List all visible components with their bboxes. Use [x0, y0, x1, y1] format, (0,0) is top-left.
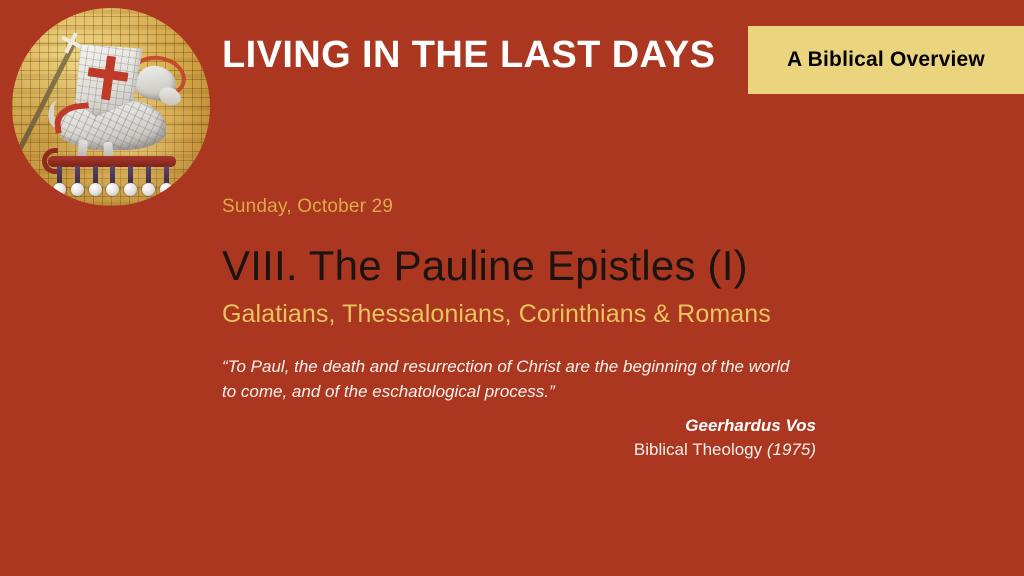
seal	[71, 166, 84, 202]
seal	[53, 166, 66, 202]
seal-cord	[164, 166, 169, 184]
pull-quote: “To Paul, the death and resurrection of …	[222, 355, 800, 404]
seal-disc	[124, 183, 137, 196]
quote-source-year: (1975)	[767, 440, 816, 459]
quote-author: Geerhardus Vos	[222, 414, 816, 438]
seal-cord	[75, 166, 80, 184]
agnus-dei-mosaic-logo	[12, 8, 210, 206]
seal-cord	[93, 166, 98, 184]
seal-disc	[142, 183, 155, 196]
quote-source-title: Biblical Theology	[634, 440, 767, 459]
date-line: Sunday, October 29	[222, 196, 816, 218]
seal-cord	[146, 166, 151, 184]
seal-disc	[89, 183, 102, 196]
seal	[160, 166, 173, 202]
seven-seals-group	[53, 166, 173, 202]
subtitle-badge: A Biblical Overview	[748, 26, 1024, 94]
seal	[106, 166, 119, 202]
series-title: LIVING IN THE LAST DAYS	[222, 34, 715, 77]
subtitle-badge-label: A Biblical Overview	[787, 48, 985, 72]
seal-disc	[160, 183, 173, 196]
seal-disc	[106, 183, 119, 196]
seal-cord	[128, 166, 133, 184]
presentation-slide: LIVING IN THE LAST DAYS A Biblical Overv…	[0, 0, 1024, 576]
slide-content-block: Sunday, October 29 VIII. The Pauline Epi…	[222, 196, 816, 462]
mosaic-gold-background	[12, 8, 210, 206]
seal-disc	[53, 183, 66, 196]
seal-cord	[110, 166, 115, 184]
session-heading: VIII. The Pauline Epistles (I)	[222, 244, 816, 288]
seal-disc	[71, 183, 84, 196]
seal	[142, 166, 155, 202]
seal-cord	[57, 166, 62, 184]
quote-attribution: Geerhardus Vos Biblical Theology (1975)	[222, 414, 816, 462]
seal	[124, 166, 137, 202]
quote-source: Biblical Theology (1975)	[222, 438, 816, 462]
seal	[89, 166, 102, 202]
session-subheading: Galatians, Thessalonians, Corinthians & …	[222, 300, 816, 329]
